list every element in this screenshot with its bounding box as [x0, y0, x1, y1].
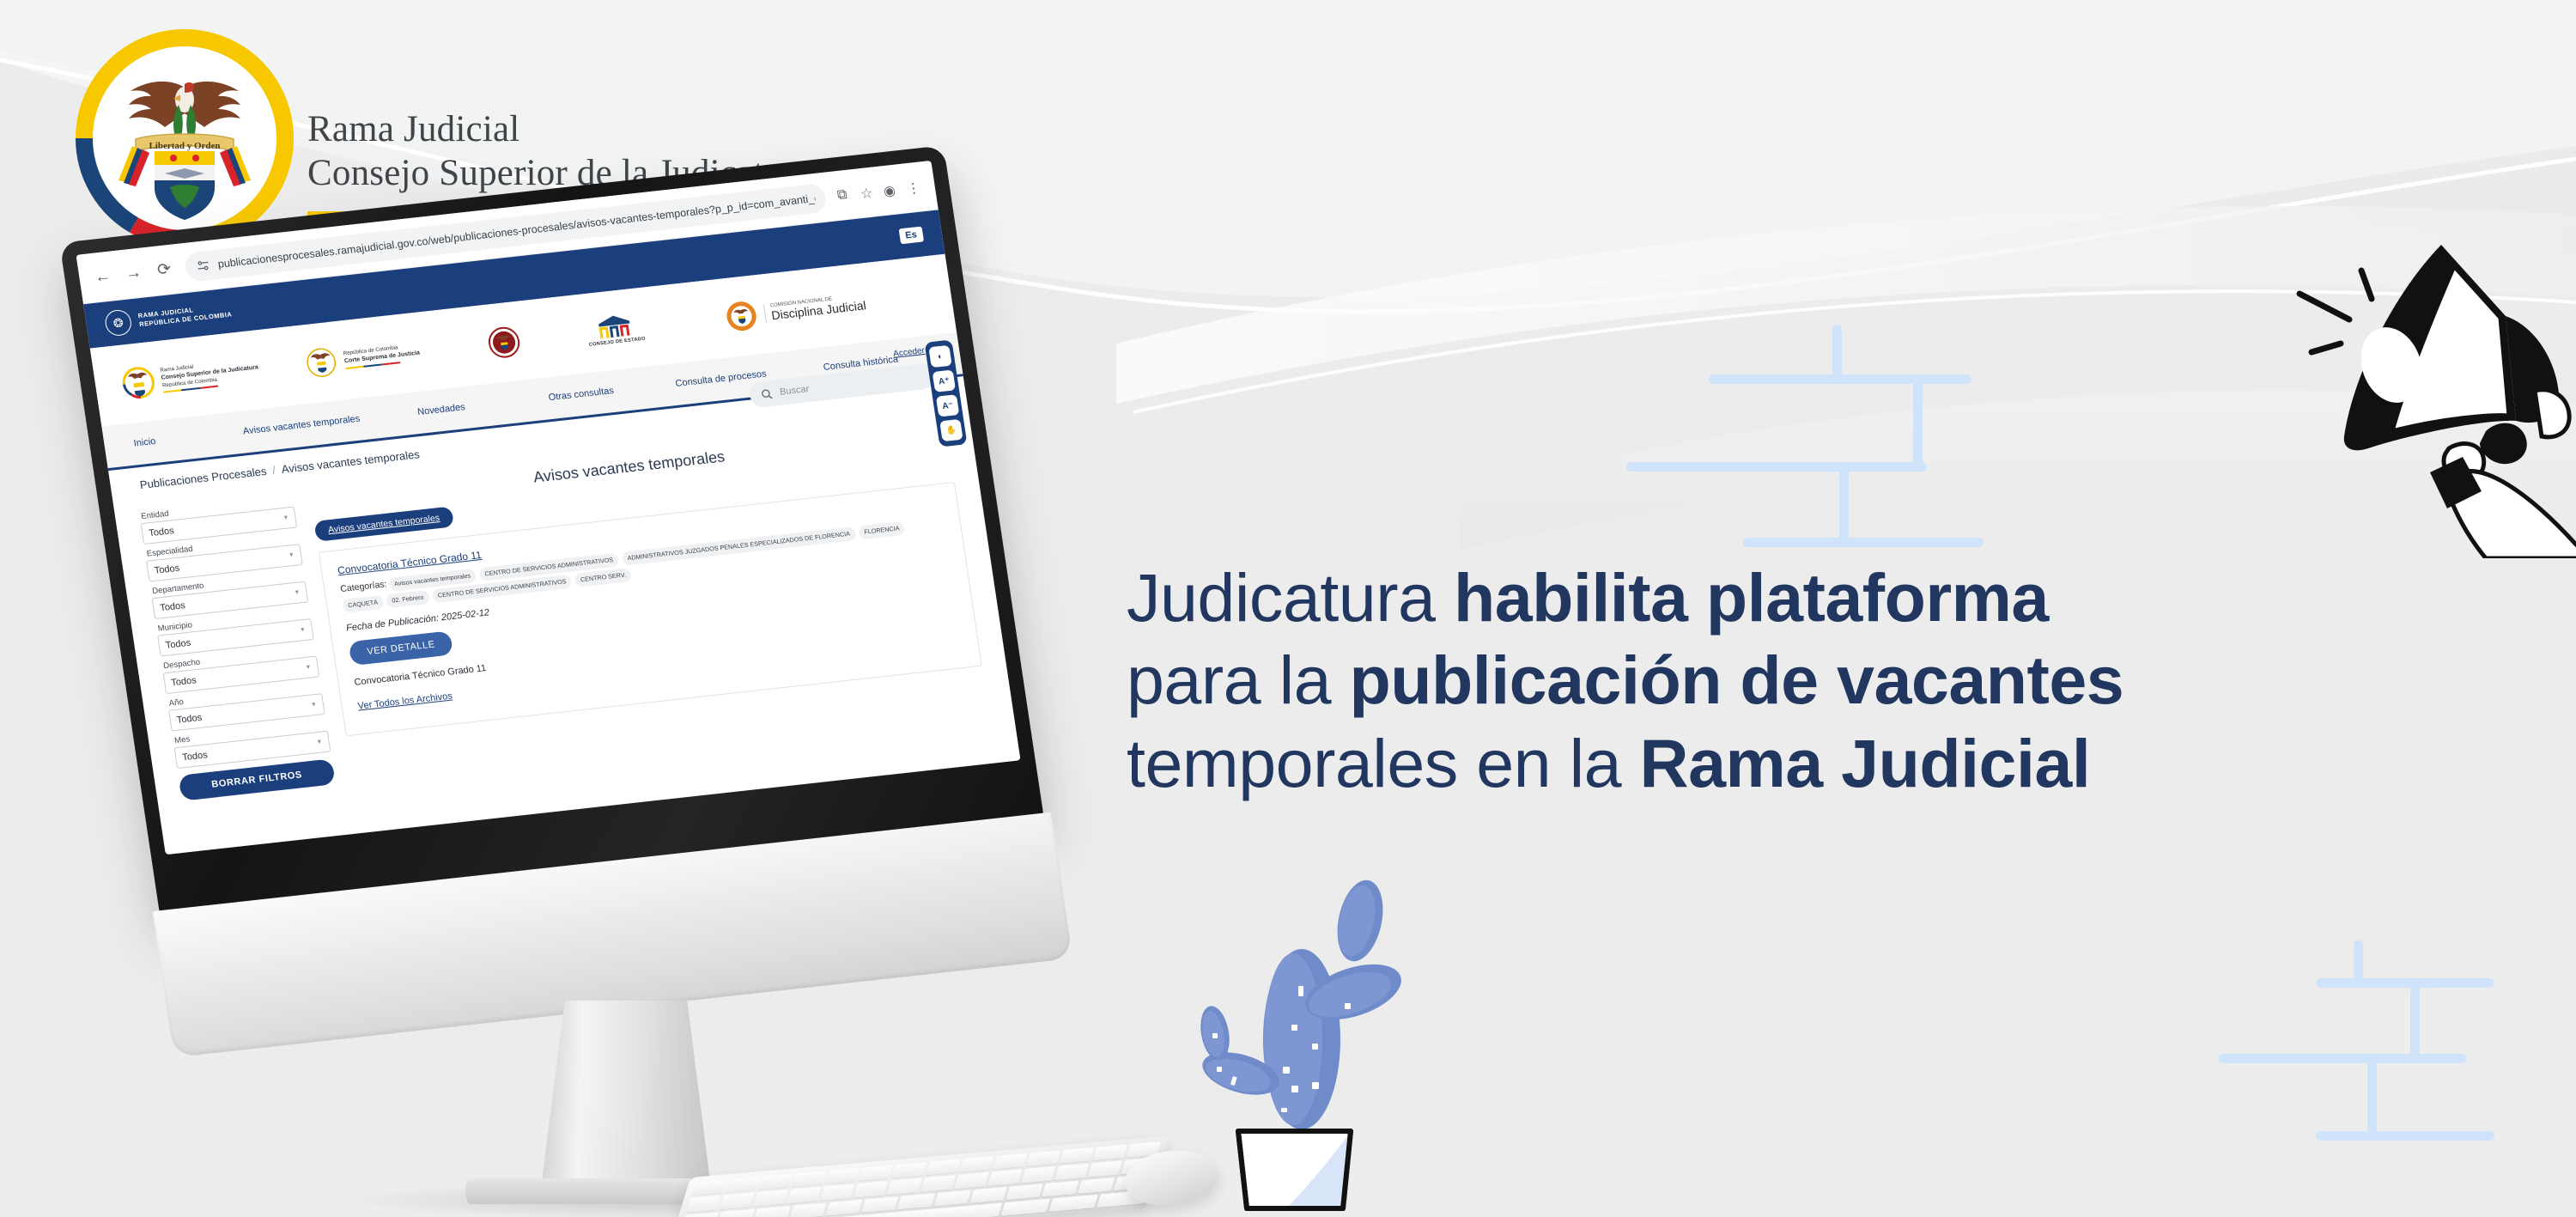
chevron-down-icon: ▼ — [300, 627, 307, 634]
logo-corte-constitucional — [484, 316, 590, 361]
publication-date-label: Fecha de Publicación: — [345, 613, 439, 634]
text-increase-icon[interactable]: A⁺ — [933, 369, 956, 392]
decorative-lines-bottom-right — [2185, 940, 2576, 1155]
monitor-stand — [541, 1001, 711, 1188]
banner-headline: Judicatura habilita plataforma para la p… — [1127, 557, 2535, 805]
tab-avisos-vacantes[interactable]: Avisos vacantes temporales — [313, 506, 453, 541]
megaphone-illustration — [2233, 215, 2576, 558]
corte-suprema-crest-icon — [301, 344, 341, 381]
disciplina-judicial-seal-icon — [721, 297, 761, 335]
nav-item-otras-consultas[interactable]: Otras consultas — [510, 381, 652, 409]
nav-item-avisos-vacantes[interactable]: Avisos vacantes temporales — [231, 412, 373, 440]
star-icon[interactable]: ☆ — [860, 184, 876, 200]
svg-text:Libertad y Orden: Libertad y Orden — [149, 141, 220, 151]
chevron-down-icon: ▼ — [283, 514, 289, 521]
results-content: Avisos vacantes temporales Avisos vacant… — [310, 423, 989, 782]
tune-icon — [195, 258, 211, 274]
decorative-lines-top-right — [1709, 325, 2069, 582]
chevron-down-icon: ▼ — [289, 552, 295, 559]
headline-line3-normal: temporales en la — [1127, 725, 1640, 801]
text-decrease-icon[interactable]: A⁻ — [936, 394, 959, 417]
filter-value-municipio: Todos — [165, 637, 191, 650]
category-chip[interactable]: FLORENCIA — [858, 520, 905, 539]
filter-value-mes: Todos — [181, 750, 208, 763]
account-icon[interactable]: ◉ — [882, 181, 898, 198]
filter-value-entidad: Todos — [148, 526, 174, 539]
view-detail-button[interactable]: VER DETALLE — [349, 631, 454, 666]
headline-line1-bold: habilita plataforma — [1454, 559, 2049, 636]
filter-value-departamento: Todos — [159, 600, 185, 613]
chevron-down-icon: ▼ — [294, 589, 301, 596]
logo-disciplina-judicial: COMISIÓN NACIONAL DE Disciplina Judicial — [721, 279, 927, 335]
category-chip[interactable]: 02. Febrero — [386, 590, 429, 609]
category-chip[interactable]: CAQUETÁ — [342, 595, 384, 614]
filter-value-ano: Todos — [176, 712, 203, 725]
search-icon — [760, 387, 773, 399]
arrow-left-icon[interactable]: ← — [92, 266, 113, 287]
filter-value-especialidad: Todos — [154, 563, 180, 575]
rama-judicial-crest-icon — [118, 364, 158, 402]
logo-rama-judicial: Rama Judicial Consejo Superior de la Jud… — [118, 348, 307, 402]
imac-desktop-mockup: ← → ⟳ publicacionesprocesales.ramajudici… — [94, 155, 1202, 1217]
language-selector[interactable]: Es — [898, 227, 924, 245]
logo-corte-suprema: República de Colombia Corte Suprema de J… — [301, 327, 489, 381]
publication-date-value: 2025-02-12 — [440, 608, 490, 624]
nav-item-novedades[interactable]: Novedades — [371, 397, 513, 424]
headline-line3-bold: Rama Judicial — [1640, 725, 2091, 801]
chevron-down-icon: ▼ — [316, 739, 323, 745]
category-chip[interactable]: CENTRO SERV. — [574, 568, 632, 588]
filter-value-despacho: Todos — [170, 675, 197, 688]
site-brand[interactable]: ❂ RAMA JUDICIAL REPÚBLICA DE COLOMBIA — [104, 298, 234, 338]
cactus-illustration — [1192, 867, 1449, 1217]
browser-window: ← → ⟳ publicacionesprocesales.ramajudici… — [76, 161, 1021, 855]
breadcrumb-separator: / — [271, 463, 276, 476]
kebab-menu-icon[interactable]: ⋮ — [905, 179, 921, 195]
sign-language-icon[interactable]: ✋ — [939, 419, 963, 441]
view-all-files-link[interactable]: Ver Todos los Archivos — [357, 691, 453, 712]
chevron-down-icon: ▼ — [311, 702, 318, 709]
filters-sidebar: Entidad Todos▼ Especialidad Todos▼ Depar… — [139, 496, 336, 801]
keyboard-illustration — [668, 1135, 1170, 1217]
colombia-seal-icon: ❂ — [104, 308, 133, 337]
breadcrumb-parent[interactable]: Publicaciones Procesales — [139, 464, 268, 490]
breadcrumb-current: Avisos vacantes temporales — [281, 447, 421, 476]
reload-icon[interactable]: ⟳ — [154, 259, 175, 280]
logo-consejo-de-estado: CONSEJO DE ESTADO — [585, 302, 726, 349]
search-placeholder: Buscar — [779, 384, 810, 398]
categories-label: Categorías: — [340, 579, 388, 594]
corte-constitucional-seal-icon — [484, 324, 524, 362]
monitor-bezel: ← → ⟳ publicacionesprocesales.ramajudici… — [59, 145, 1043, 914]
headline-line2-bold: publicación de vacantes — [1350, 642, 2124, 718]
puzzle-icon[interactable]: ⧉ — [836, 186, 853, 203]
arrow-right-icon[interactable]: → — [123, 263, 144, 283]
nav-item-inicio[interactable]: Inicio — [133, 428, 233, 450]
contrast-icon[interactable]: ◐ — [928, 345, 951, 368]
chevron-down-icon: ▼ — [305, 664, 312, 671]
